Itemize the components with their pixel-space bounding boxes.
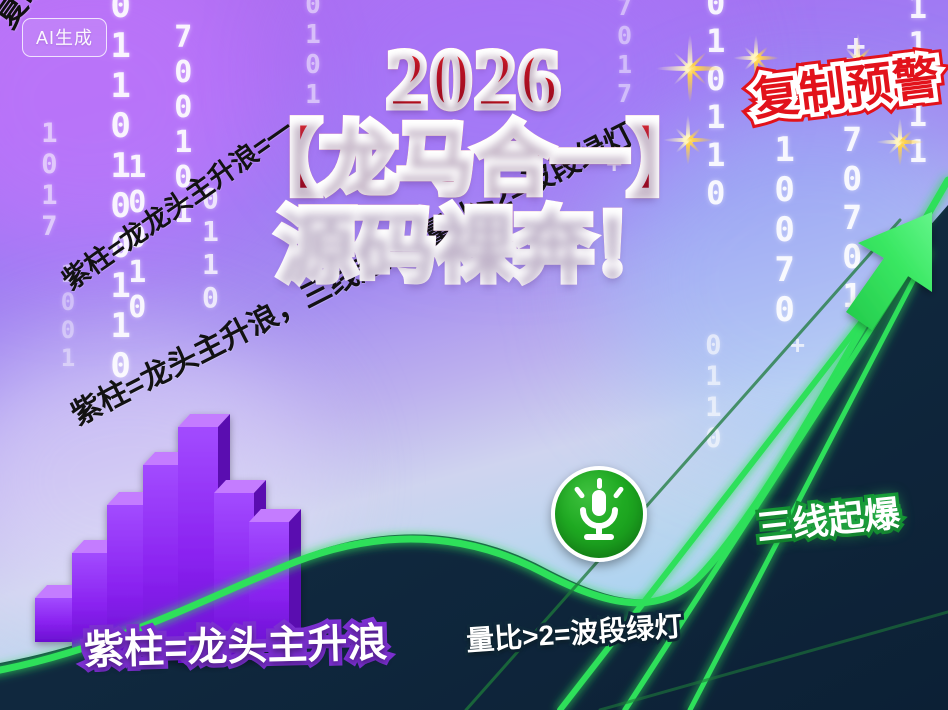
chart-graphics — [0, 0, 948, 710]
microphone-icon — [555, 470, 643, 558]
poster-canvas: 0110100110 700101 1017 10010 0110 0101 7… — [0, 0, 948, 710]
microphone-button[interactable] — [551, 466, 647, 562]
ai-generated-badge: AI生成 — [22, 18, 107, 57]
ai-generated-badge-label: AI生成 — [36, 28, 93, 48]
purple-bar-group — [35, 414, 301, 663]
